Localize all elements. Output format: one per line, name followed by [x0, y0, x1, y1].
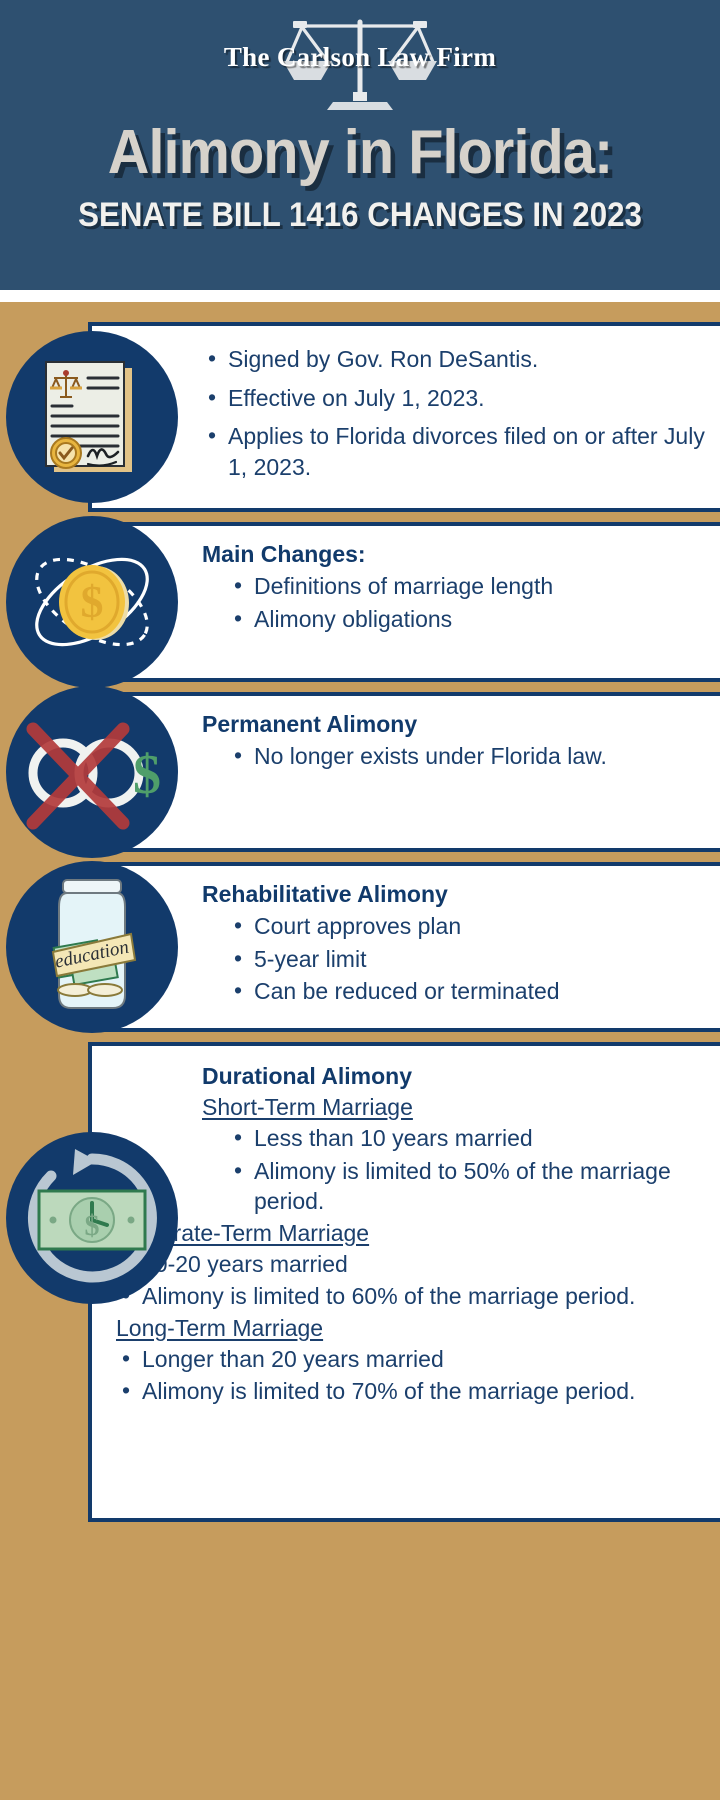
list-item: Definitions of marriage length [228, 571, 708, 602]
header-divider [0, 290, 720, 302]
education-savings-jar-icon: education [6, 861, 178, 1033]
group-label-long-term: Long-Term Marriage [116, 1314, 706, 1344]
short-term-bullet-list: Less than 10 years married Alimony is li… [228, 1123, 706, 1217]
list-item: Less than 10 years married [228, 1123, 706, 1154]
list-item: Longer than 20 years married [116, 1344, 706, 1375]
long-term-bullet-list: Longer than 20 years married Alimony is … [116, 1344, 706, 1407]
group-label-moderate-term: Moderate-Term Marriage [116, 1219, 706, 1249]
page-title: Alimony in Florida: [25, 122, 695, 184]
section-overview: Signed by Gov. Ron DeSantis. Effective o… [88, 322, 720, 512]
section-heading: Rehabilitative Alimony [202, 880, 708, 909]
coin-orbit-icon: $ [6, 516, 178, 688]
svg-text:$: $ [81, 576, 104, 627]
overview-bullet-list: Signed by Gov. Ron DeSantis. Effective o… [202, 344, 706, 482]
infographic-body: Signed by Gov. Ron DeSantis. Effective o… [0, 302, 720, 1522]
list-item: Effective on July 1, 2023. [202, 383, 706, 414]
list-item: Signed by Gov. Ron DeSantis. [202, 344, 706, 375]
list-item: Alimony is limited to 50% of the marriag… [228, 1156, 706, 1217]
list-item: Alimony obligations [228, 604, 708, 635]
list-item: 5-year limit [228, 944, 708, 975]
infographic-header: The Carlson Law Firm Alimony in Florida:… [0, 0, 720, 290]
list-item: Alimony is limited to 70% of the marriag… [116, 1376, 706, 1407]
main-changes-bullet-list: Definitions of marriage length Alimony o… [228, 571, 708, 634]
rehabilitative-bullet-list: Court approves plan 5-year limit Can be … [228, 911, 708, 1007]
section-heading: Main Changes: [202, 540, 708, 569]
svg-text:$: $ [133, 744, 161, 806]
section-permanent-alimony: $ Permanent Alimony No longer exists und… [88, 692, 720, 852]
section-main-changes: $ Main Changes: Definitions of marriage … [88, 522, 720, 682]
section-durational-alimony: $ Durational Alimony Short-Term Marriage… [88, 1042, 720, 1522]
permanent-alimony-bullet-list: No longer exists under Florida law. [228, 741, 708, 772]
crossed-out-rings-dollar-icon: $ [6, 686, 178, 858]
section-rehabilitative-alimony: education Rehabilitative Alimony Court a… [88, 862, 720, 1032]
list-item: Applies to Florida divorces filed on or … [202, 421, 706, 482]
section-heading: Durational Alimony [202, 1062, 706, 1091]
firm-name: The Carlson Law Firm [0, 42, 720, 73]
list-item: Alimony is limited to 60% of the marriag… [116, 1281, 706, 1312]
section-heading: Permanent Alimony [202, 710, 708, 739]
list-item: Can be reduced or terminated [228, 976, 708, 1007]
group-label-short-term: Short-Term Marriage [202, 1093, 706, 1123]
list-item: No longer exists under Florida law. [228, 741, 708, 772]
list-item: 10-20 years married [116, 1249, 706, 1280]
money-clock-cycle-icon: $ [6, 1132, 178, 1304]
page-subtitle: SENATE BILL 1416 CHANGES IN 2023 [29, 198, 691, 232]
svg-text:$: $ [85, 1209, 100, 1242]
moderate-term-bullet-list: 10-20 years married Alimony is limited t… [116, 1249, 706, 1312]
logo-block: The Carlson Law Firm [0, 12, 720, 110]
signed-document-icon [6, 331, 178, 503]
list-item: Court approves plan [228, 911, 708, 942]
